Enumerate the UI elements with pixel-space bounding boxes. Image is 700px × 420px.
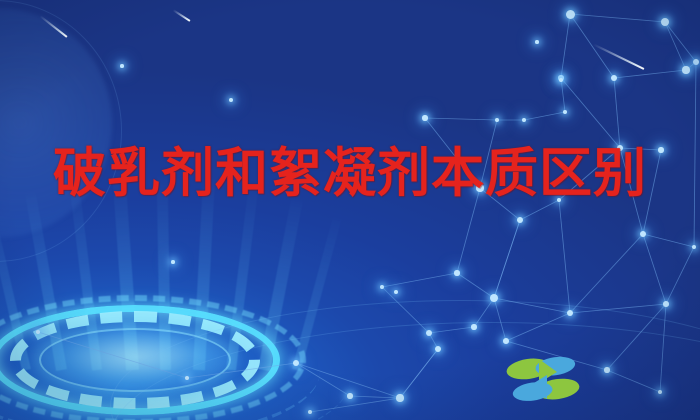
comet-streak [173, 9, 191, 21]
comet-streak [40, 15, 68, 37]
logo-mark [505, 348, 581, 410]
page-title: 破乳剂和絮凝剂本质区别 [0, 147, 700, 201]
company-logo [505, 348, 581, 410]
comet-streak [593, 44, 644, 70]
banner-canvas: 破乳剂和絮凝剂本质区别 [0, 0, 700, 420]
comet-streaks [0, 0, 700, 420]
